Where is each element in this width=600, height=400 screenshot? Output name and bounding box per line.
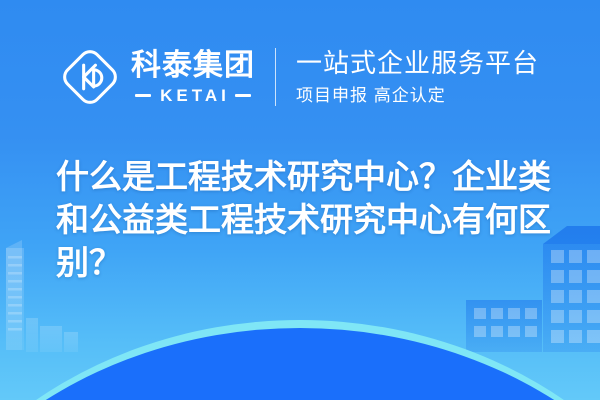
logo-dash-left-icon [135,94,151,97]
brand-logo[interactable]: 科泰集团 KETAI [61,48,255,106]
header-divider [275,48,276,106]
logo-wordmark: 科泰集团 KETAI [131,51,255,104]
logo-english-row: KETAI [135,87,251,104]
left-low-block [26,318,78,352]
logo-english-name: KETAI [156,87,230,104]
left-tall-striped-tower [6,240,24,350]
brand-header: 科泰集团 KETAI 一站式企业服务平台 项目申报 高企认定 [0,38,600,116]
logo-chinese-name: 科泰集团 [131,51,255,81]
ground-ellipse [0,328,600,400]
slogan-main-text: 一站式企业服务平台 [296,50,539,76]
logo-dash-right-icon [235,94,251,97]
slogan-sub-text: 项目申报 高企认定 [296,87,539,104]
article-cover-banner: 科泰集团 KETAI 一站式企业服务平台 项目申报 高企认定 什么是工程技术研究… [0,0,600,400]
page-title: 什么是工程技术研究中心？企业类和公益类工程技术研究中心有何区别？ [56,155,556,284]
right-wide-window-block [466,300,542,352]
slogan-block: 一站式企业服务平台 项目申报 高企认定 [296,50,539,104]
ketai-diamond-k-logo-icon [61,48,119,106]
